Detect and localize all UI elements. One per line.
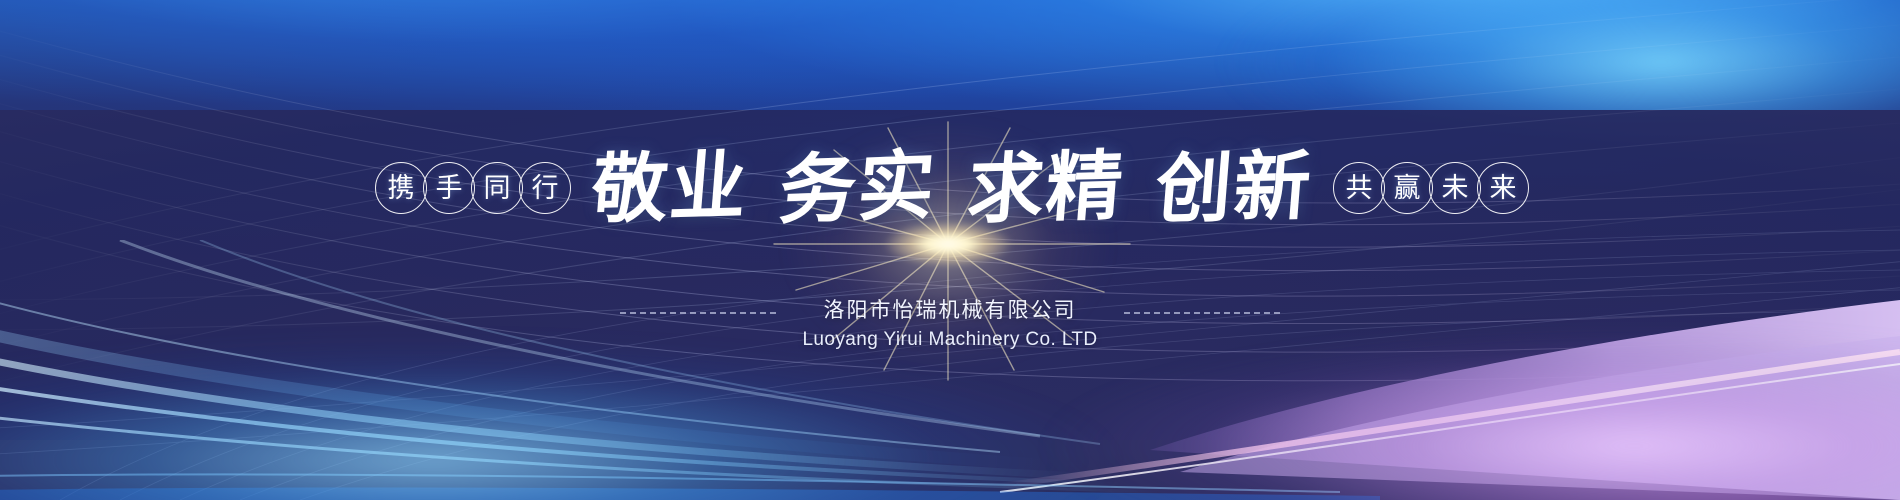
slogan-row: 携 手 同 行 敬业 务实 求精 创新 共 赢 未 来 (0, 150, 1900, 226)
slogan-word-qiujing: 求精 (962, 148, 1130, 228)
circle-char-wei: 未 (1429, 162, 1481, 214)
circle-char-xie: 携 (375, 162, 427, 214)
right-circle-char-group: 共 赢 未 来 (1333, 162, 1525, 214)
slogan-calligraphy: 敬业 务实 求精 创新 (589, 150, 1315, 226)
company-row: 洛阳市怡瑞机械有限公司 Luoyang Yirui Machinery Co. … (0, 296, 1900, 353)
company-name-en: Luoyang Yirui Machinery Co. LTD (802, 328, 1097, 353)
circle-char-ying: 赢 (1381, 162, 1433, 214)
company-name-cn: 洛阳市怡瑞机械有限公司 (823, 296, 1076, 324)
slogan-word-wushi: 务实 (773, 147, 942, 229)
banner-content: 携 手 同 行 敬业 务实 求精 创新 共 赢 未 来 (0, 0, 1900, 500)
hero-banner: 携 手 同 行 敬业 务实 求精 创新 共 赢 未 来 (0, 0, 1900, 500)
circle-char-lai: 来 (1477, 162, 1529, 214)
company-name-block: 洛阳市怡瑞机械有限公司 Luoyang Yirui Machinery Co. … (802, 296, 1097, 353)
circle-char-gong: 共 (1333, 162, 1385, 214)
dashed-divider-left (620, 312, 776, 314)
circle-char-tong: 同 (471, 162, 523, 214)
slogan-word-jingye: 敬业 (586, 148, 754, 228)
circle-char-xing: 行 (519, 162, 571, 214)
slogan-word-chuangxin: 创新 (1150, 148, 1318, 228)
circle-char-shou: 手 (423, 162, 475, 214)
dashed-divider-right (1124, 312, 1280, 314)
left-circle-char-group: 携 手 同 行 (375, 162, 567, 214)
